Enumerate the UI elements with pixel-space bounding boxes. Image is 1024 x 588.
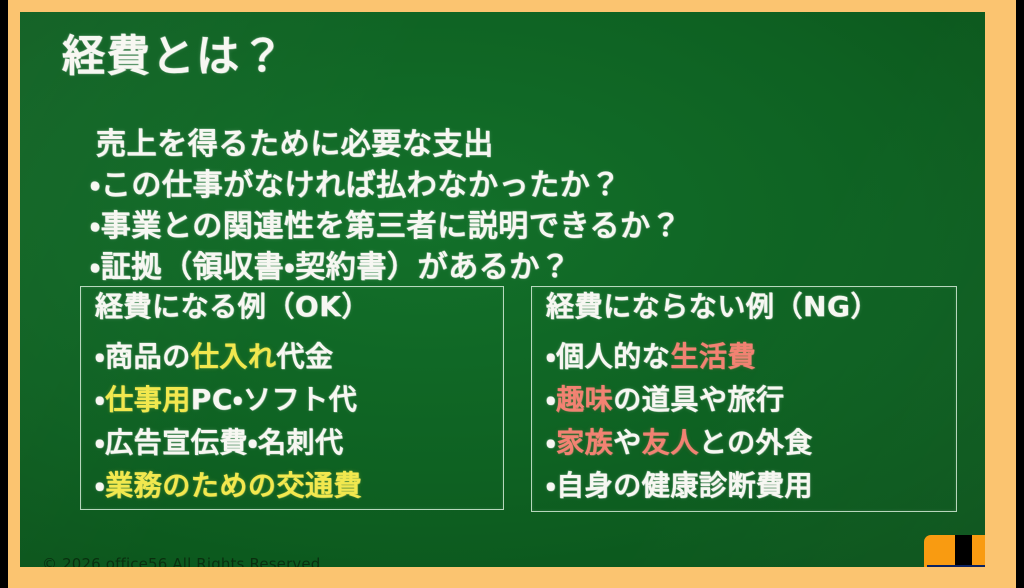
example-box-ok-title: 経費になる例（OK） xyxy=(95,293,370,321)
body-line-bullet-1: ・この仕事がなければ払わなかったか？ xyxy=(90,171,621,201)
example-box-ng-list: ・個人的な生活費・趣味の道具や旅行・家族や友人との外食・自身の健康診断費用 xyxy=(546,335,813,507)
example-box-ok: 経費になる例（OK） ・商品の仕入れ代金・仕事用PC・ソフト代・広告宣伝費・名刺… xyxy=(80,286,504,510)
example-box-ok-list: ・商品の仕入れ代金・仕事用PC・ソフト代・広告宣伝費・名刺代・業務のための交通費 xyxy=(95,335,362,507)
eraser-stripe xyxy=(955,535,972,567)
list-item-text: ・広告宣伝費・名刺代 xyxy=(95,426,344,459)
list-item: ・自身の健康診断費用 xyxy=(546,464,813,507)
list-item: ・個人的な生活費 xyxy=(546,335,813,378)
list-item-text: ・ xyxy=(95,383,105,416)
list-item-text: 交通費 xyxy=(276,469,362,502)
page-title: 経費とは？ xyxy=(62,36,286,79)
list-item-text: や xyxy=(613,426,642,459)
list-item-text: 仕事用 xyxy=(105,383,191,416)
list-item-text: 業務のための xyxy=(105,469,276,502)
chalkboard-surface: 経費とは？ 売上を得るために必要な支出 ・この仕事がなければ払わなかったか？ ・… xyxy=(20,12,985,567)
body-line-heading: 売上を得るために必要な支出 xyxy=(96,130,494,160)
blackboard-eraser-icon xyxy=(924,535,985,567)
list-item-text: ・個人的な xyxy=(546,340,670,373)
body-line-bullet-2: ・事業との関連性を第三者に説明できるか？ xyxy=(90,212,681,242)
body-line-bullet-3: ・証拠（領収書・契約書）があるか？ xyxy=(90,253,571,283)
list-item-text: 生活費 xyxy=(670,340,756,373)
list-item: ・広告宣伝費・名刺代 xyxy=(95,421,362,464)
list-item-text: 代金 xyxy=(276,340,333,373)
eraser-base xyxy=(927,565,985,567)
list-item-text: ・ xyxy=(546,426,556,459)
list-item: ・仕事用PC・ソフト代 xyxy=(95,378,362,421)
list-item-text: の道具や旅行 xyxy=(613,383,784,416)
list-item: ・家族や友人との外食 xyxy=(546,421,813,464)
list-item-text: 家族 xyxy=(556,426,613,459)
list-item: ・趣味の道具や旅行 xyxy=(546,378,813,421)
list-item-text: との外食 xyxy=(699,426,813,459)
list-item-text: ・ xyxy=(546,383,556,416)
example-box-ng: 経費にならない例（NG） ・個人的な生活費・趣味の道具や旅行・家族や友人との外食… xyxy=(531,286,957,512)
list-item-text: 趣味 xyxy=(556,383,613,416)
list-item-text: ・商品の xyxy=(95,340,191,373)
list-item-text: ・ xyxy=(95,469,105,502)
list-item: ・業務のための交通費 xyxy=(95,464,362,507)
list-item-text: ・自身の健康診断費用 xyxy=(546,469,813,502)
copyright-text: © 2026 office56 All Rights Reserved xyxy=(42,555,320,567)
slide-root: 経費とは？ 売上を得るために必要な支出 ・この仕事がなければ払わなかったか？ ・… xyxy=(0,0,1024,588)
list-item-text: 仕入れ xyxy=(191,340,277,373)
list-item: ・商品の仕入れ代金 xyxy=(95,335,362,378)
list-item-text: 友人 xyxy=(642,426,699,459)
example-box-ng-title: 経費にならない例（NG） xyxy=(546,293,879,321)
list-item-text: PC・ソフト代 xyxy=(191,383,358,416)
